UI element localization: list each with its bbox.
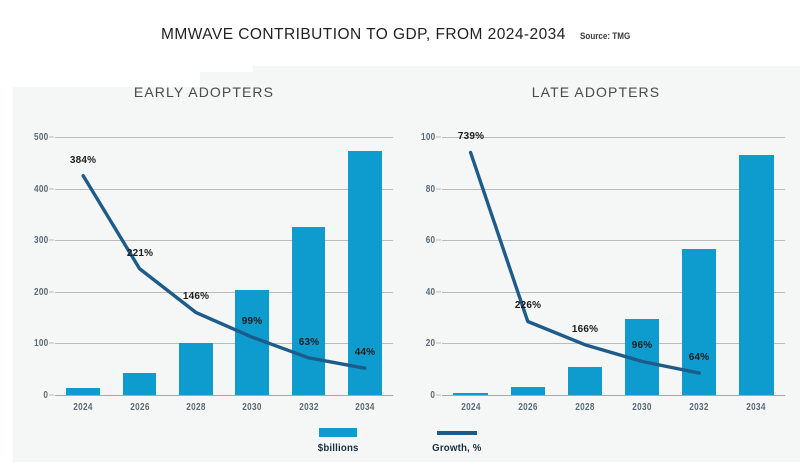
data-label: 739% [457, 130, 483, 142]
x-tick-label: 2028 [575, 401, 594, 413]
y-tick-mark [49, 395, 54, 396]
legend-label: $billions [318, 442, 359, 454]
legend-label: Growth, % [432, 442, 481, 454]
x-tick-label: 2032 [299, 401, 318, 413]
source-note: Source: TMG [580, 31, 630, 42]
gridline [55, 395, 393, 396]
y-tick-mark [49, 188, 54, 189]
y-tick-label: 500 [34, 131, 48, 143]
y-tick-label: 40 [425, 286, 435, 298]
y-tick-mark [436, 343, 441, 344]
data-label: 99% [242, 315, 263, 327]
x-tick-label: 2034 [747, 401, 766, 413]
panel-title: EARLY ADOPTERS [8, 84, 400, 100]
x-tick-label: 2030 [242, 401, 261, 413]
y-tick-mark [436, 395, 441, 396]
panel-late-adopters: LATE ADOPTERS 020406080100 739%226%166%9… [400, 84, 792, 424]
chart-header: MMWAVE CONTRIBUTION TO GDP, FROM 2024-20… [0, 26, 800, 60]
data-label: 226% [515, 299, 541, 311]
growth-line-path [471, 153, 700, 374]
x-tick-label: 2026 [518, 401, 537, 413]
plot-area-early: 0100200300400500 384%221%146%99%63%44% [55, 137, 393, 395]
y-tick-label: 200 [34, 286, 48, 298]
y-tick-label: 300 [34, 234, 48, 246]
y-tick-mark [436, 291, 441, 292]
data-label: 166% [572, 323, 598, 335]
y-tick-label: 80 [425, 183, 435, 195]
gridline [442, 395, 785, 396]
data-label: 221% [126, 247, 152, 259]
y-tick-mark [436, 137, 441, 138]
y-tick-label: 20 [425, 337, 435, 349]
y-tick-label: 0 [43, 389, 48, 401]
growth-line-late [442, 137, 785, 395]
y-tick-label: 60 [425, 234, 435, 246]
x-tick-label: 2030 [632, 401, 651, 413]
legend-item-billions: $billions [316, 428, 360, 454]
data-label: 44% [355, 346, 376, 358]
data-label: 384% [70, 154, 96, 166]
chart-figure: MMWAVE CONTRIBUTION TO GDP, FROM 2024-20… [0, 0, 800, 472]
y-tick-mark [436, 188, 441, 189]
x-axis-early: 202420262028203020322034 [55, 401, 393, 419]
y-tick-label: 100 [34, 337, 48, 349]
data-label: 96% [632, 339, 653, 351]
data-label: 146% [183, 290, 209, 302]
panel-title: LATE ADOPTERS [400, 84, 792, 100]
y-tick-mark [436, 240, 441, 241]
y-tick-label: 100 [421, 131, 435, 143]
y-tick-mark [49, 291, 54, 292]
bar-swatch-icon [319, 428, 357, 437]
data-label: 64% [689, 351, 710, 363]
data-label: 63% [298, 336, 319, 348]
y-tick-mark [49, 137, 54, 138]
y-tick-mark [49, 343, 54, 344]
plot-area-late: 020406080100 739%226%166%96%64% [442, 137, 785, 395]
growth-line-early [55, 137, 393, 395]
panel-early-adopters: EARLY ADOPTERS 0100200300400500 384%221%… [8, 84, 400, 424]
x-tick-label: 2032 [690, 401, 709, 413]
growth-line-path [83, 176, 365, 369]
x-tick-label: 2028 [186, 401, 205, 413]
y-tick-label: 400 [34, 183, 48, 195]
x-tick-label: 2024 [73, 401, 92, 413]
line-swatch-icon [437, 431, 477, 435]
y-tick-label: 0 [430, 389, 435, 401]
x-tick-label: 2034 [355, 401, 374, 413]
x-tick-label: 2026 [130, 401, 149, 413]
chart-legend: $billions Growth, % [0, 428, 800, 454]
chart-title: MMWAVE CONTRIBUTION TO GDP, FROM 2024-20… [161, 26, 566, 44]
x-axis-late: 202420262028203020322034 [442, 401, 785, 419]
legend-item-growth: Growth, % [430, 428, 484, 454]
x-tick-label: 2024 [461, 401, 480, 413]
y-tick-mark [49, 240, 54, 241]
